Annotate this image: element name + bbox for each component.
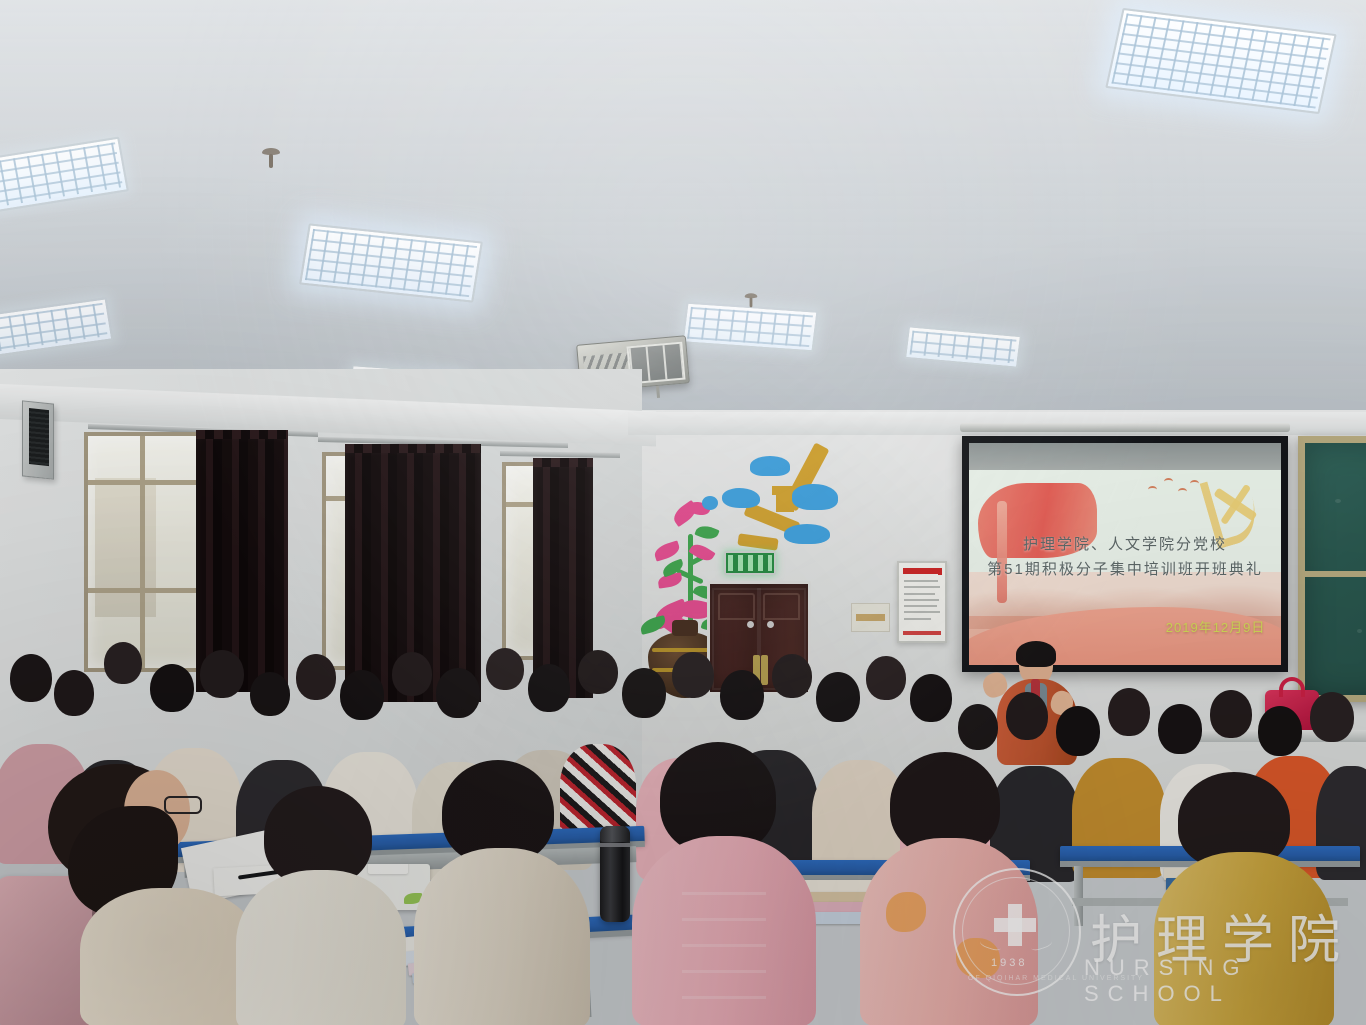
wall-speaker [22, 400, 54, 479]
sprinkler-head-icon [745, 293, 758, 308]
mural-cloud [784, 524, 830, 544]
foreground-student [626, 742, 816, 1025]
slide-title-line2: 第51期积极分子集中培训班开班典礼 [969, 558, 1281, 579]
eyeglasses-icon [164, 796, 202, 814]
mural-cloud [750, 456, 790, 476]
foreground-student [24, 760, 244, 1025]
foreground-student [860, 752, 1040, 1025]
sprinkler-head-icon [262, 148, 280, 170]
foreground-student [1158, 772, 1344, 1025]
mural-cloud [702, 496, 718, 510]
birds-graphic [1144, 476, 1200, 496]
wall-plaque [851, 603, 890, 632]
foreground-student [416, 760, 596, 1025]
screen-roller [960, 423, 1291, 432]
mural-cloud [792, 484, 838, 510]
slide-title-line1: 护理学院、人文学院分党校 [969, 533, 1281, 554]
mural-cloud [722, 488, 760, 508]
exit-sign [724, 551, 776, 575]
foreground-student [234, 786, 412, 1025]
classroom-photo: 护理学院、人文学院分党校 第51期积极分子集中培训班开班典礼 2019年12月9… [0, 0, 1366, 1025]
